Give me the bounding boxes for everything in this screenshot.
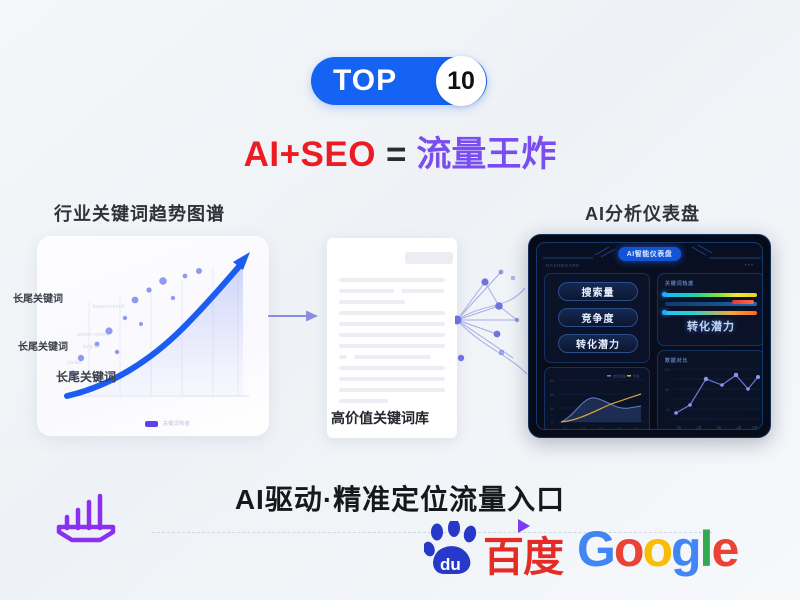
keyword-annotation-1: 长尾关键词 [13,290,63,305]
svg-text:Q1: Q1 [563,427,568,430]
heat-panel-title: 关键词热度 [665,280,694,287]
node-graph-connector [455,262,535,392]
svg-text:keyword trend: keyword trend [93,304,125,310]
top-badge-word: TOP [333,64,397,98]
doc-line [339,311,445,315]
baidu-logo: du 百度 [424,521,563,577]
right-section-title: AI分析仪表盘 [585,200,700,226]
google-letter-2: o [614,527,643,572]
svg-text:30: 30 [550,407,554,411]
left-section-title: 行业关键词趋势图谱 [54,200,225,226]
svg-text:0: 0 [551,420,553,424]
doc-line [339,300,405,304]
headline-operator: = [386,135,406,174]
doc-line [339,366,445,370]
legend-swatch [145,421,158,427]
svg-text:Q5: Q5 [633,427,638,430]
doc-line [339,344,445,348]
doc-line [339,377,445,381]
doc-line [339,322,445,326]
traffic-trend-panel: Q1Q2 Q3Q4Q5 8060 300 自然流量 付费 [544,367,650,430]
google-letter-5: l [700,527,712,572]
google-letter-3: o [642,527,671,572]
doc-line [401,289,443,293]
svg-text:80: 80 [550,379,554,383]
svg-text:1周: 1周 [676,425,681,430]
svg-text:100: 100 [664,368,670,372]
heat-marker-1 [662,292,667,297]
svg-text:2周: 2周 [696,425,701,430]
svg-text:付费: 付费 [633,373,639,378]
slide-canvas: TOP 10 AI+SEO=流量王炸 行业关键词趋势图谱 AI分析仪表盘 [0,0,800,600]
doc-header-block [405,252,453,264]
dashboard-subtitle: DASHBOARD [546,263,580,268]
doc-line [339,278,445,282]
top-badge-rank: 10 [436,56,486,106]
baidu-wordmark: 百度 [483,539,563,577]
document-label: 高价值关键词库 [331,408,429,428]
keyword-trend-chart-card: keyword trend search volume long tail cl… [37,236,269,436]
compare-line-chart: 1006020 1周2周 3周4周5周 [658,361,763,430]
doc-line [339,289,394,293]
metric-pill-search-volume[interactable]: 搜索量 [558,282,638,301]
svg-text:3周: 3周 [716,425,721,430]
keyword-annotation-3: 长尾关键词 [56,368,116,385]
svg-text:自然流量: 自然流量 [613,373,627,378]
svg-text:60: 60 [550,393,554,397]
headline-primary: AI+SEO [244,135,376,174]
heat-overlay-label: 转化潜力 [658,318,763,334]
trend-chart-svg: keyword trend search volume long tail cl… [37,236,269,436]
dashboard-menu-icon[interactable]: ••• [745,263,754,269]
google-letter-1: G [577,527,614,572]
page-title: AI+SEO=流量王炸 [0,126,800,177]
doc-line [339,388,445,392]
dashboard-title: AI智能仪表盘 [618,247,682,261]
svg-text:Q3: Q3 [599,427,604,430]
search-engine-logos: du 百度 G o o g l e [424,521,737,577]
svg-text:20: 20 [666,408,670,412]
svg-text:long tail: long tail [83,344,100,350]
heat-alert-chip [732,300,754,304]
svg-text:cluster: cluster [67,360,82,366]
heat-marker-2 [662,310,667,315]
doc-line-row [339,289,445,293]
metric-pill-competition[interactable]: 竞争度 [558,308,638,327]
bar-chart-trophy-icon [50,484,124,546]
svg-text:60: 60 [665,388,669,392]
google-logo: G o o g l e [577,527,737,572]
flow-arrow-icon [268,308,320,324]
keyword-annotation-2: 长尾关键词 [18,338,68,353]
doc-line [339,333,445,337]
top-rank-badge: TOP 10 [311,57,487,105]
heat-panel: 关键词热度 转化潜力 [657,273,763,346]
chart-legend: 关键词热度 [145,420,190,427]
traffic-area-chart: Q1Q2 Q3Q4Q5 8060 300 自然流量 付费 [545,368,651,430]
doc-line [339,355,347,359]
heat-bar-1 [665,293,757,297]
data-compare-panel: 数据对比 1006020 [657,350,763,430]
svg-text:4周: 4周 [736,425,741,430]
svg-text:search volume: search volume [77,332,110,338]
doc-line [354,355,430,359]
metric-pill-conversion[interactable]: 转化潜力 [558,334,638,353]
baidu-du-text: du [440,555,461,574]
dashboard-screen: AI智能仪表盘 DASHBOARD ••• 搜索量 竞争度 转化潜力 关键词热度… [536,242,763,430]
doc-line [339,399,388,403]
svg-text:Q4: Q4 [617,427,622,430]
svg-text:5周: 5周 [752,425,757,430]
google-letter-6: e [711,527,737,572]
baidu-paw-icon: du [424,521,482,577]
doc-line-row [339,355,445,359]
svg-text:Q2: Q2 [581,427,586,430]
headline-secondary: 流量王炸 [416,135,556,174]
ai-dashboard-panel: AI智能仪表盘 DASHBOARD ••• 搜索量 竞争度 转化潜力 关键词热度… [528,234,771,438]
heat-bar-3 [665,311,757,315]
metrics-panel: 搜索量 竞争度 转化潜力 [544,273,650,363]
google-letter-4: g [671,527,700,572]
legend-label: 关键词热度 [163,420,190,427]
